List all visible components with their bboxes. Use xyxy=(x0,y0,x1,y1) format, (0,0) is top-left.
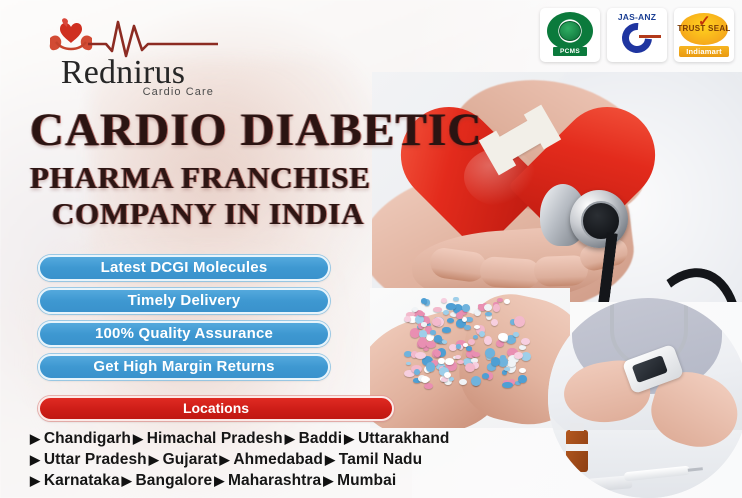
pill-tablet xyxy=(519,368,526,373)
globe-icon xyxy=(559,21,581,41)
pill-tablet xyxy=(491,357,500,366)
pill-tablet xyxy=(514,316,525,327)
locations-row: ▶ Uttar Pradesh▶ Gujarat▶ Ahmedabad▶ Tam… xyxy=(30,449,510,470)
pill-tablet xyxy=(464,325,471,330)
triangle-right-icon: ▶ xyxy=(149,452,163,467)
pill-tablet xyxy=(457,360,464,364)
location-item[interactable]: Himachal Pradesh xyxy=(147,430,283,447)
pill-tablet xyxy=(514,352,523,359)
pill-tablet xyxy=(441,298,447,303)
triangle-right-icon: ▶ xyxy=(285,431,299,446)
pill-tablet xyxy=(504,299,510,305)
pill-tablet xyxy=(456,312,463,319)
pill-tablet xyxy=(519,345,527,350)
headline-line-3: COMPANY IN INDIA xyxy=(52,196,460,232)
locations-list: ▶ Chandigarh▶ Himachal Pradesh▶ Baddi▶ U… xyxy=(30,428,510,491)
pill-tablet xyxy=(513,332,519,338)
pill-tablet xyxy=(434,335,442,342)
pill-tablet xyxy=(459,379,467,385)
pill-tablet xyxy=(463,343,468,347)
pill-tablet xyxy=(521,338,530,345)
pill-tablet xyxy=(426,341,437,348)
hero-finger xyxy=(479,256,541,290)
pill-tablet xyxy=(472,352,480,357)
location-item[interactable]: Uttarakhand xyxy=(358,430,450,447)
pill-tablet xyxy=(484,304,492,311)
triangle-right-icon: ▶ xyxy=(214,473,228,488)
pill-tablet xyxy=(447,318,454,323)
location-item[interactable]: Baddi xyxy=(299,430,343,447)
pill-tablet xyxy=(462,304,471,312)
location-item[interactable]: Ahmedabad xyxy=(233,451,323,468)
pill-tablet xyxy=(418,312,425,316)
pill-tablet xyxy=(479,331,485,337)
location-item[interactable]: Tamil Nadu xyxy=(339,451,422,468)
pill-tablet xyxy=(442,327,450,332)
cardio-diabetic-franchise-banner: Rednirus Cardio Care PCMS JAS-ANZ ✓ TRUS… xyxy=(0,0,742,498)
pill-tablet xyxy=(497,298,503,301)
location-item[interactable]: Gujarat xyxy=(163,451,218,468)
jas-anz-label: JAS-ANZ xyxy=(609,12,665,22)
jas-anz-bar xyxy=(639,35,661,38)
pill-tablet xyxy=(482,373,489,379)
pill-tablet xyxy=(455,355,461,359)
hands-holding-pills-photo xyxy=(370,288,570,428)
triangle-right-icon: ▶ xyxy=(30,431,44,446)
pcms-label: PCMS xyxy=(553,47,587,56)
pill-tablet xyxy=(473,335,478,339)
pill-tablet xyxy=(502,382,513,389)
triangle-right-icon: ▶ xyxy=(133,431,147,446)
doctor-glucometer-photo xyxy=(548,298,742,498)
triangle-right-icon: ▶ xyxy=(323,473,337,488)
locations-heading-banner: Locations xyxy=(38,396,394,421)
pill-tablet xyxy=(426,362,435,372)
pill-tablet xyxy=(415,352,426,359)
brand-tagline: Cardio Care xyxy=(28,86,218,98)
pill-tablet xyxy=(443,310,449,316)
pill-tablet xyxy=(453,297,459,302)
trust-seal-label: TRUST SEAL xyxy=(676,24,732,33)
trust-seal-badge[interactable]: ✓ TRUST SEAL Indiamart xyxy=(674,8,734,62)
feature-pill-list: Latest DCGI MoleculesTimely Delivery100%… xyxy=(38,255,330,387)
triangle-right-icon: ▶ xyxy=(122,473,136,488)
pill-tablet xyxy=(438,358,444,364)
pill-tablet xyxy=(432,318,441,326)
feature-pill[interactable]: Latest DCGI Molecules xyxy=(38,255,330,281)
pill-tablet xyxy=(465,363,475,372)
trust-seal-source: Indiamart xyxy=(679,46,729,57)
pill-tablet xyxy=(474,325,480,329)
pill-pile xyxy=(404,296,534,392)
pill-tablet xyxy=(421,322,428,327)
pill-tablet xyxy=(445,358,455,365)
pill-tablet xyxy=(468,339,475,345)
pill-tablet xyxy=(424,383,433,390)
pill-tablet xyxy=(404,316,411,322)
headline-line-2: PHARMA FRANCHISE xyxy=(30,160,460,196)
pill-tablet xyxy=(449,377,455,381)
certification-badges: PCMS JAS-ANZ ✓ TRUST SEAL Indiamart xyxy=(540,8,734,62)
headline: CARDIO DIABETIC PHARMA FRANCHISE COMPANY… xyxy=(30,104,460,232)
pill-tablet xyxy=(406,362,412,366)
triangle-right-icon: ▶ xyxy=(325,452,339,467)
feature-pill[interactable]: Timely Delivery xyxy=(38,288,330,314)
feature-pill[interactable]: 100% Quality Assurance xyxy=(38,321,330,347)
triangle-right-icon: ▶ xyxy=(30,452,44,467)
location-item[interactable]: Bangalore xyxy=(135,472,212,489)
brand-logo[interactable]: Rednirus Cardio Care xyxy=(28,14,218,92)
pill-tablet xyxy=(518,375,526,383)
locations-row: ▶ Chandigarh▶ Himachal Pradesh▶ Baddi▶ U… xyxy=(30,428,510,449)
pill-tablet xyxy=(484,336,492,344)
triangle-right-icon: ▶ xyxy=(220,452,234,467)
location-item[interactable]: Chandigarh xyxy=(44,430,131,447)
feature-pill[interactable]: Get High Margin Returns xyxy=(38,354,330,380)
medicine-bottle-icon xyxy=(566,430,588,472)
location-item[interactable]: Maharashtra xyxy=(228,472,321,489)
pill-tablet xyxy=(471,376,481,386)
triangle-right-icon: ▶ xyxy=(30,473,44,488)
pcms-certification-badge[interactable]: PCMS xyxy=(540,8,600,62)
pill-tablet xyxy=(442,340,447,343)
headline-line-1: CARDIO DIABETIC xyxy=(30,104,460,156)
jas-anz-g-mark-icon xyxy=(616,17,658,59)
locations-row: ▶ Karnataka▶ Bangalore▶ Maharashtra▶ Mum… xyxy=(30,470,510,491)
pill-tablet xyxy=(430,330,436,335)
pill-tablet xyxy=(433,307,442,313)
brand-name: Rednirus xyxy=(28,56,218,90)
pill-tablet xyxy=(493,304,500,311)
location-item[interactable]: Uttar Pradesh xyxy=(44,451,147,468)
jas-anz-certification-badge[interactable]: JAS-ANZ xyxy=(607,8,667,62)
pill-tablet xyxy=(434,350,441,356)
pill-tablet xyxy=(491,319,498,326)
location-item[interactable]: Karnataka xyxy=(44,472,120,489)
pill-tablet xyxy=(414,369,420,375)
location-item[interactable]: Mumbai xyxy=(337,472,396,489)
pill-tablet xyxy=(504,367,510,371)
triangle-right-icon: ▶ xyxy=(344,431,358,446)
